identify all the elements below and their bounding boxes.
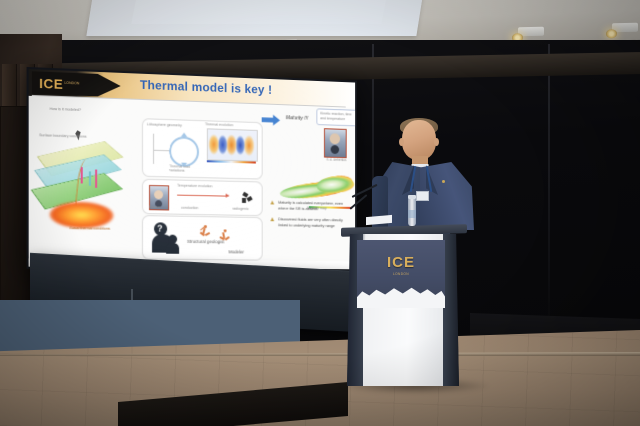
unknown-person-icon: ? [152,222,178,253]
spotlight-icon [612,23,638,32]
basal-heat-glow [50,201,114,229]
arrhenius-caption: S. A. Arrhenius [320,157,352,162]
thermal-heatmap [207,128,258,161]
process-arrow [177,195,228,197]
kinetics-callout: Kinetic reaction, time and temperature [316,108,355,126]
runner-icon [199,225,212,238]
water-bottle-label [408,210,416,218]
ceiling-light-panel-inner [131,0,388,24]
ice-logo-subtext: LONDON [64,82,79,86]
bullet-item: Discovered fluids are very often directl… [270,217,352,229]
warning-triangle-icon [270,218,274,222]
radiogenic-label: radiogenic [232,207,248,212]
thermal-evolution-card: Lithosphere geometry Thermal evolution T… [142,118,263,179]
conduction-label: conduction [181,206,198,211]
basal-thermal-label: Basal thermal conditions [66,226,113,231]
spotlight-icon [518,27,544,36]
podium: ICE LONDON [345,226,463,388]
ice-logo: ICE LONDON [32,71,121,97]
slide-left-question: How is it modeled? [50,107,81,113]
fourier-caption: Fourier [149,205,160,210]
lapel-pin [442,180,445,183]
temperature-evolution-card: Temperature evolution Fourier conduction… [142,179,263,216]
warning-triangle-icon [270,200,274,204]
podium-ice-logo: ICE LONDON [357,254,445,276]
conference-room-photo: ICE LONDON Thermal model is key ! How is… [0,0,640,426]
podium-logo-text: ICE [357,254,445,271]
lithosphere-geometry-label: Lithosphere geometry [147,122,182,128]
slide-bullet-list: Maturity is calculated everywhere, even … [270,199,352,234]
speaker [372,118,478,230]
heatmap-colorbar [207,160,256,163]
slide-title: Thermal model is key ! [140,78,272,97]
maturity-arrow-icon [262,114,280,125]
ice-logo-text: ICE [39,75,63,91]
podium-side-panel-right [443,234,459,386]
name-badge [416,191,429,201]
water-bottle-cap [408,195,416,199]
bullet-item: Maturity is calculated everywhere, even … [270,199,352,212]
podium-logo-subtext: LONDON [357,272,445,276]
bullet-text: Maturity is calculated everywhere, even … [278,200,343,211]
maturity-label: Maturity !!! [286,115,308,122]
thermal-evolution-label: Thermal evolution [205,122,233,127]
arrhenius-portrait [324,128,347,158]
modeler-label: Modeler [229,249,245,255]
slide-surface: ICE LONDON Thermal model is key ! How is… [29,69,355,269]
people-card: ? Structural geologist Modele [142,215,263,261]
riser-marking [131,289,133,300]
projection-screen: ICE LONDON Thermal model is key ! How is… [27,67,357,271]
radioactivity-icon [238,192,249,203]
thermal-load-label: Thermal load variations [169,164,203,174]
backdrop-seam [548,44,550,339]
temperature-evolution-title: Temperature evolution [177,184,212,189]
speaker-head [402,120,436,160]
kinetics-callout-text: Kinetic reaction, time and temperature [320,111,355,121]
structural-geologist-label: Structural geologist [187,239,224,245]
bullet-text: Discovered fluids are very often directl… [278,217,343,228]
